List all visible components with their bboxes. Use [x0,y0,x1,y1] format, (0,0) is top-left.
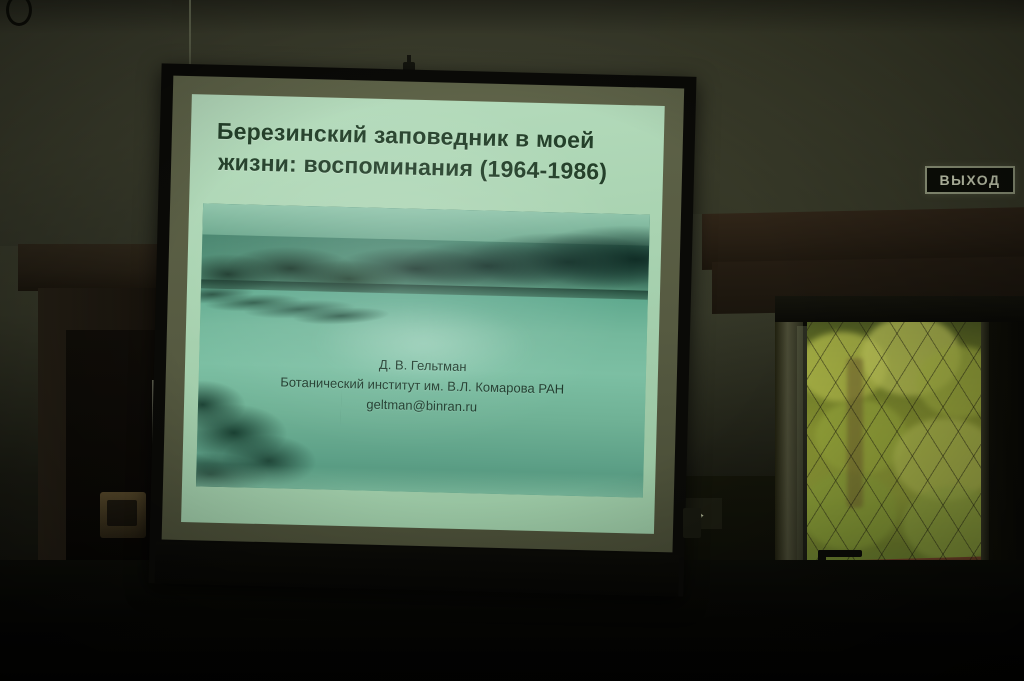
projection-screen-assembly: Березинский заповедник в моей жизни: вос… [150,56,698,604]
exit-sign-label: ВЫХОД [940,173,1001,187]
slide-photograph: Д. В. Гельтман Ботанический институт им.… [196,204,650,498]
projection-screen-frame: Березинский заповедник в моей жизни: вос… [149,63,697,596]
screen-matte-border: Березинский заповедник в моей жизни: вос… [162,76,685,553]
projected-slide: Березинский заповедник в моей жизни: вос… [181,94,665,534]
slide-title: Березинский заповедник в моей жизни: вос… [216,116,653,189]
window-head [775,296,1024,322]
photo-left-shore [196,252,399,346]
exit-sign: ВЫХОД [925,166,1015,194]
wall-left-upper [0,0,172,246]
screen-side-knob [683,508,701,538]
ceiling-shadow [0,0,1024,34]
door-handle-bar[interactable] [818,550,862,557]
room-scene: ВЫХОД → [0,0,1024,681]
chair [100,492,146,538]
slide-author-block: Д. В. Гельтман Ботанический институт им.… [252,352,593,420]
